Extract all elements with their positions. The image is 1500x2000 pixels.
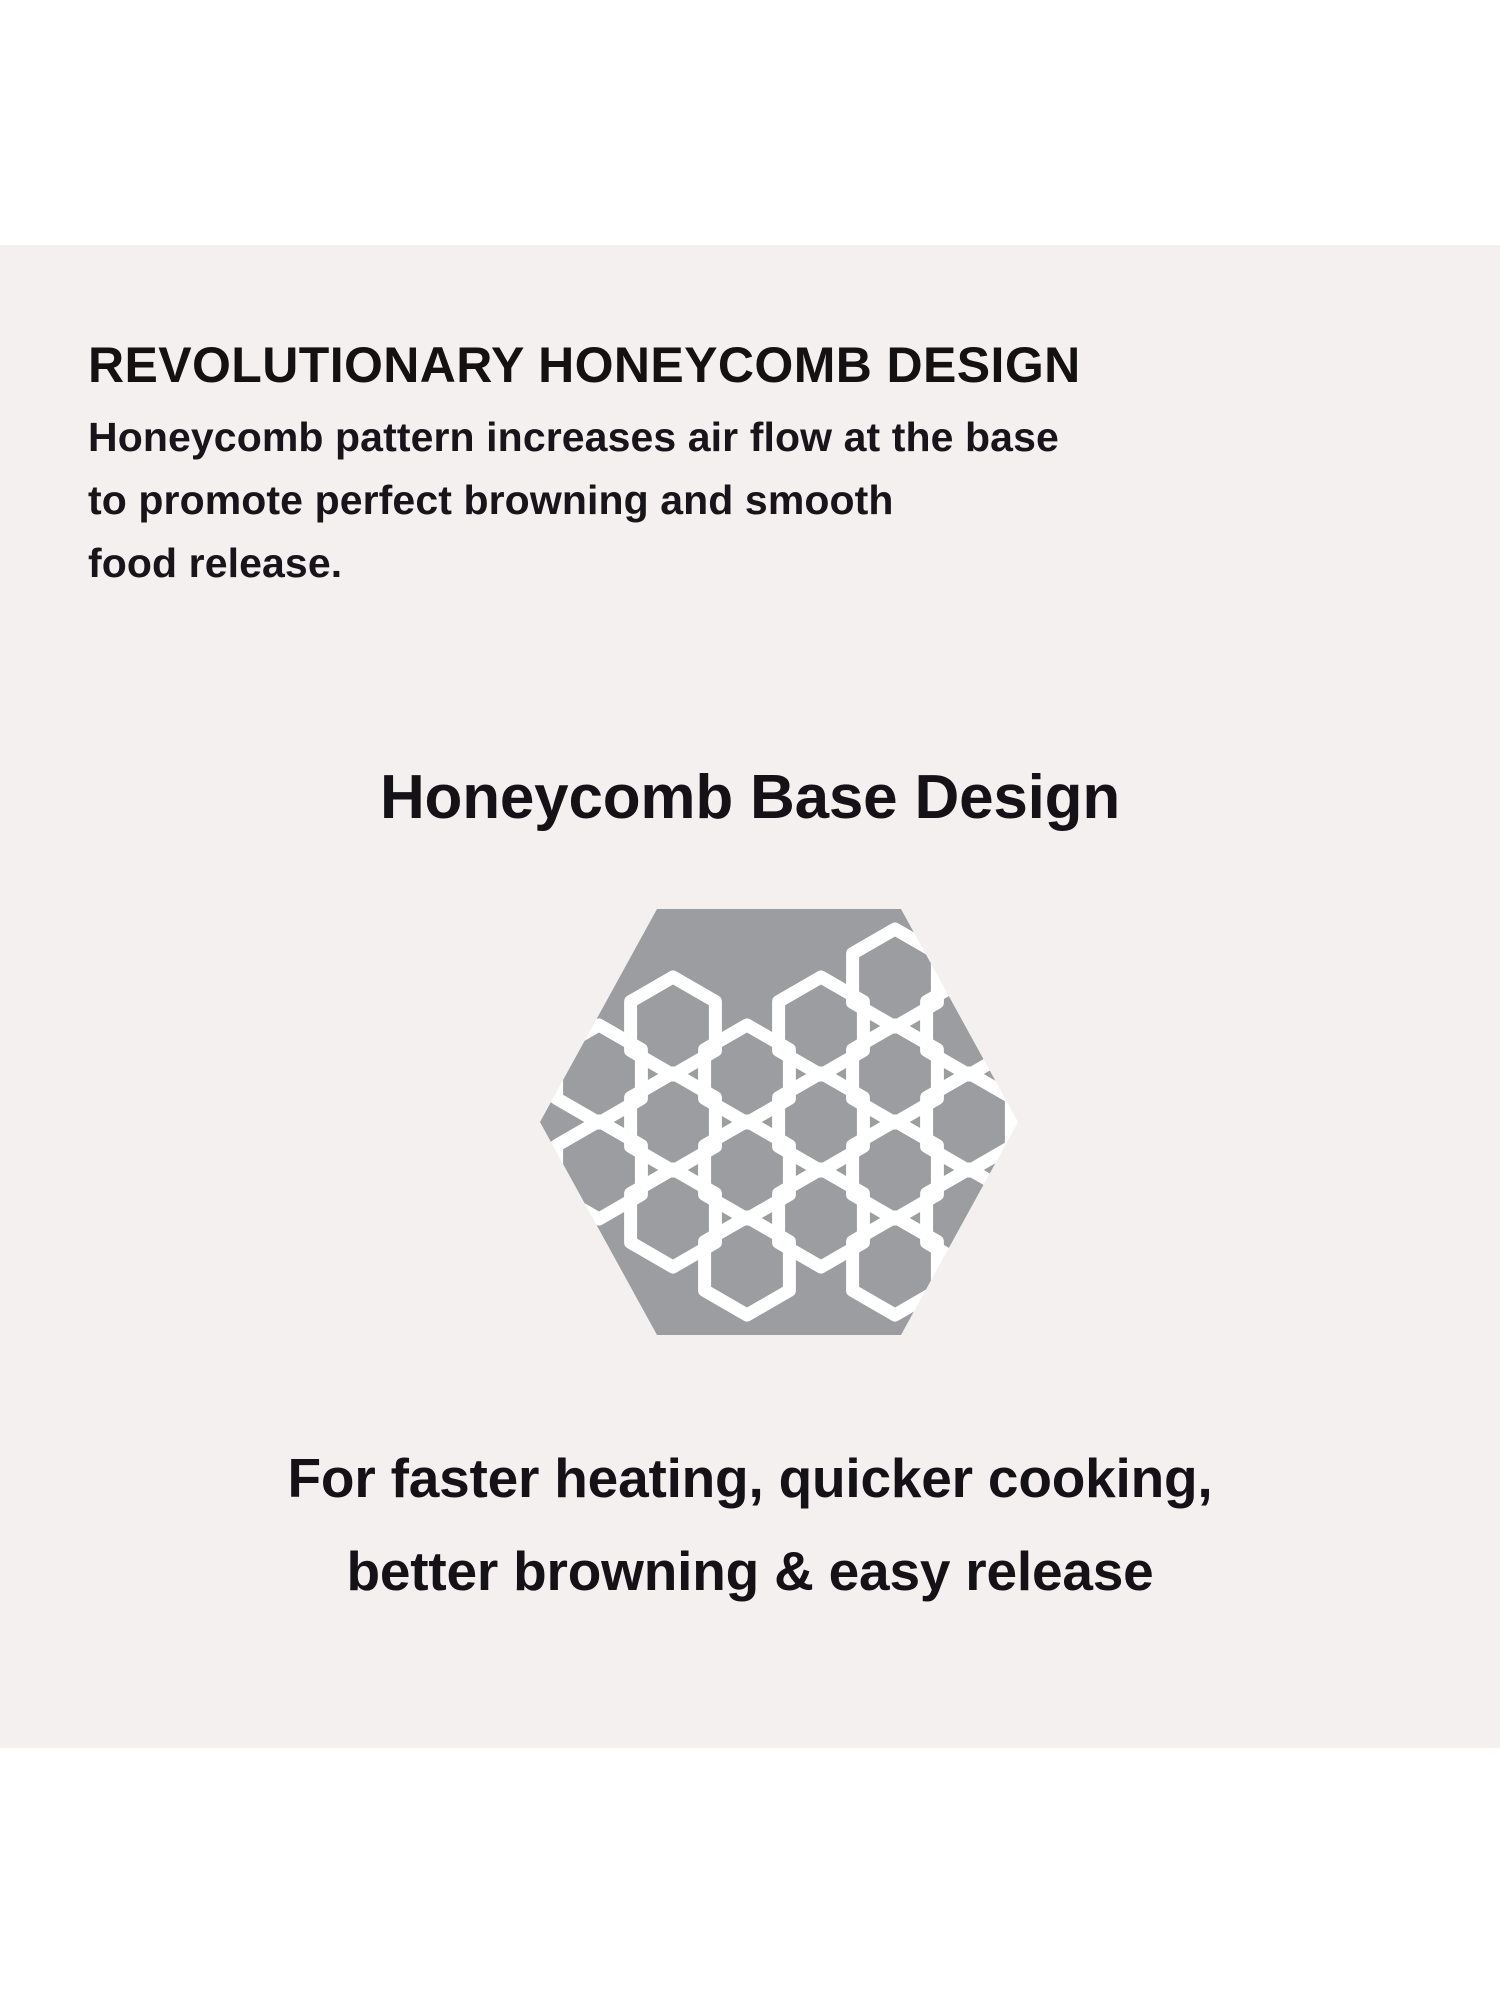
feature-description: Honeycomb pattern increases air flow at … <box>88 397 1408 595</box>
graphic-title: Honeycomb Base Design <box>0 760 1500 836</box>
feature-panel-page: REVOLUTIONARY HONEYCOMB DESIGN Honeycomb… <box>0 0 1500 2000</box>
feature-caption-line-1: For faster heating, quicker cooking, <box>0 1432 1500 1525</box>
feature-caption-line-2: better browning & easy release <box>0 1525 1500 1618</box>
honeycomb-graphic <box>536 905 1022 1339</box>
feature-description-line-3: food release. <box>88 532 1408 595</box>
page-title: REVOLUTIONARY HONEYCOMB DESIGN <box>88 333 1408 397</box>
feature-text-block: REVOLUTIONARY HONEYCOMB DESIGN Honeycomb… <box>88 333 1408 595</box>
feature-caption: For faster heating, quicker cooking, bet… <box>0 1432 1500 1618</box>
honeycomb-base-icon <box>536 905 1022 1339</box>
feature-description-line-2: to promote perfect browning and smooth <box>88 469 1408 532</box>
feature-description-line-1: Honeycomb pattern increases air flow at … <box>88 406 1408 469</box>
